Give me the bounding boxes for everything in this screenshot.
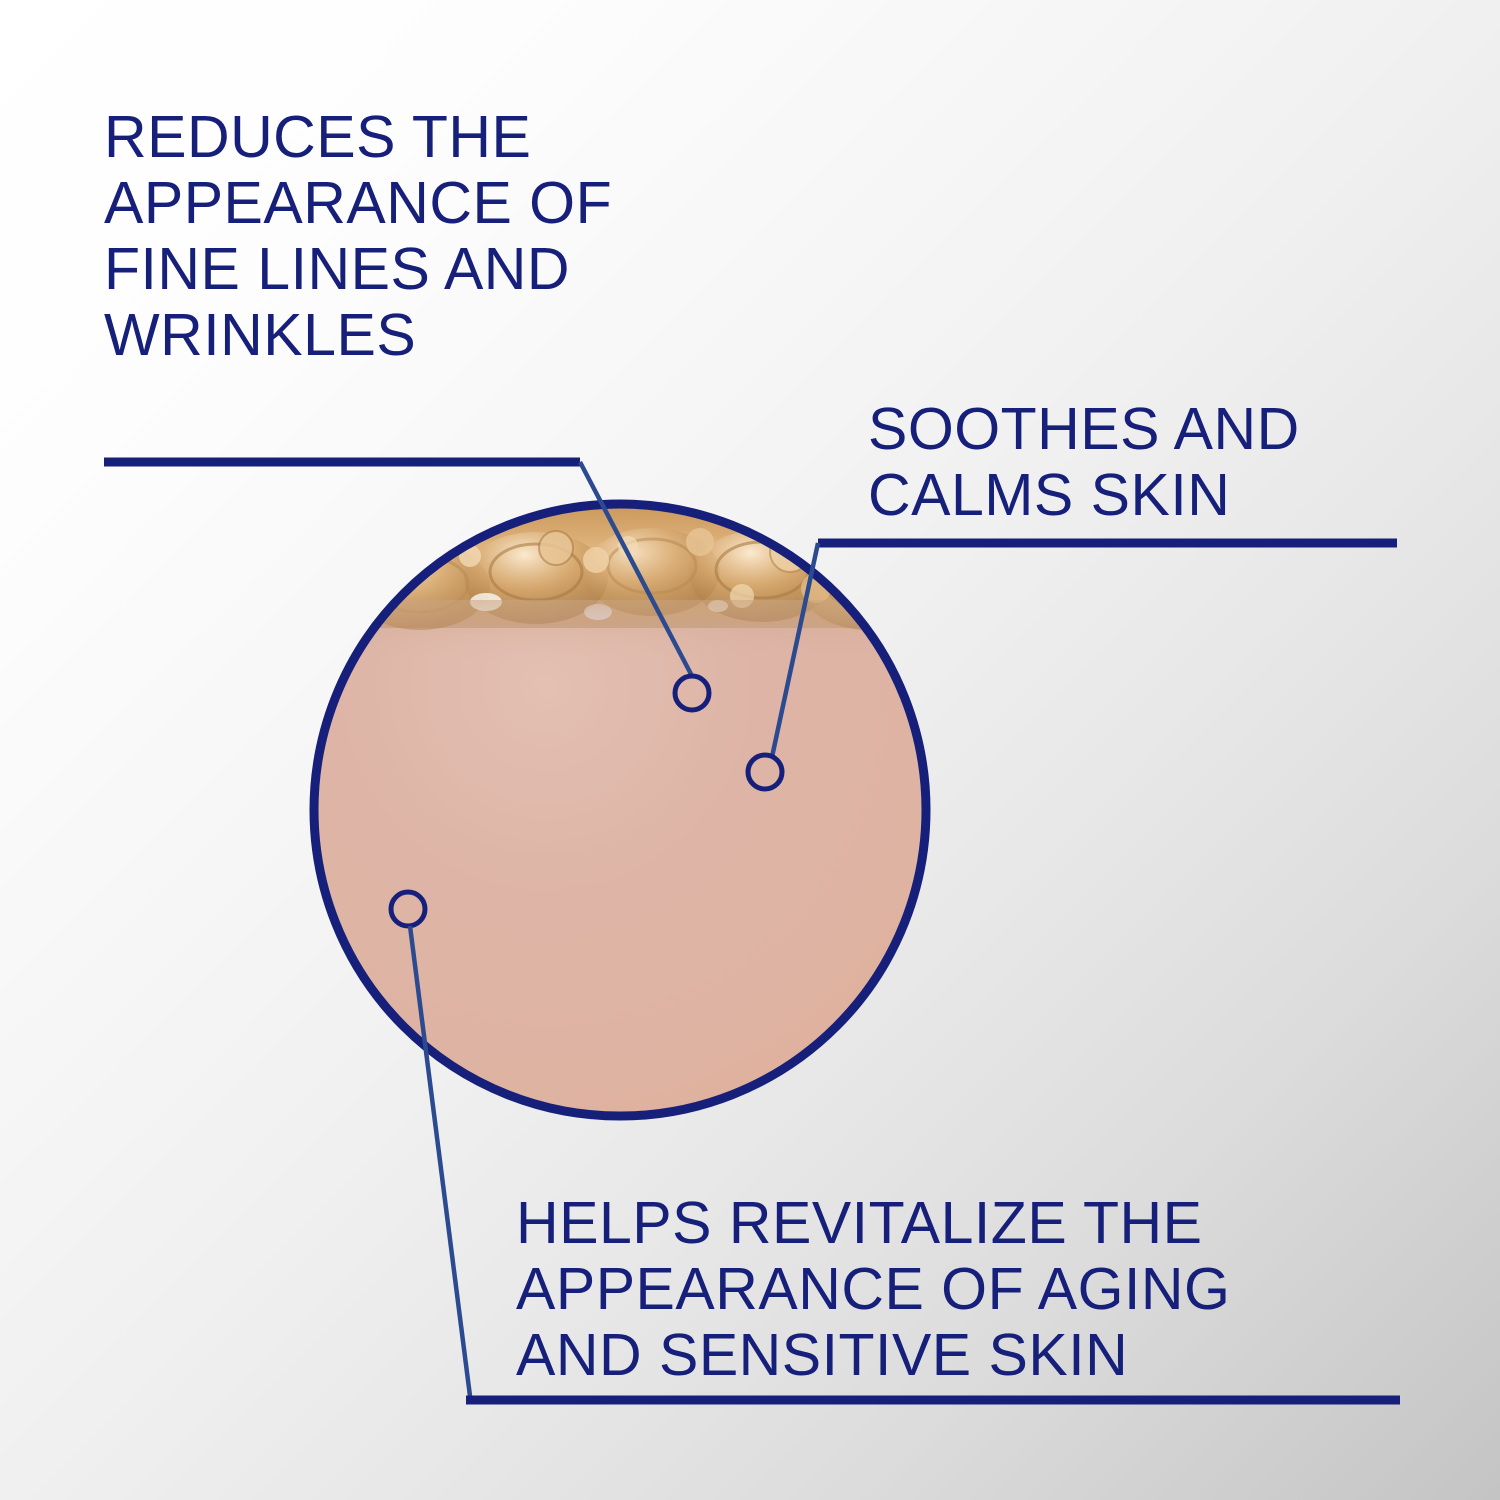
bubble-cluster-icon [310,500,934,660]
product-swatch [310,500,934,1120]
infographic-canvas: REDUCES THE APPEARANCE OF FINE LINES AND… [0,0,1500,1500]
callout-overlay [0,0,1500,1500]
